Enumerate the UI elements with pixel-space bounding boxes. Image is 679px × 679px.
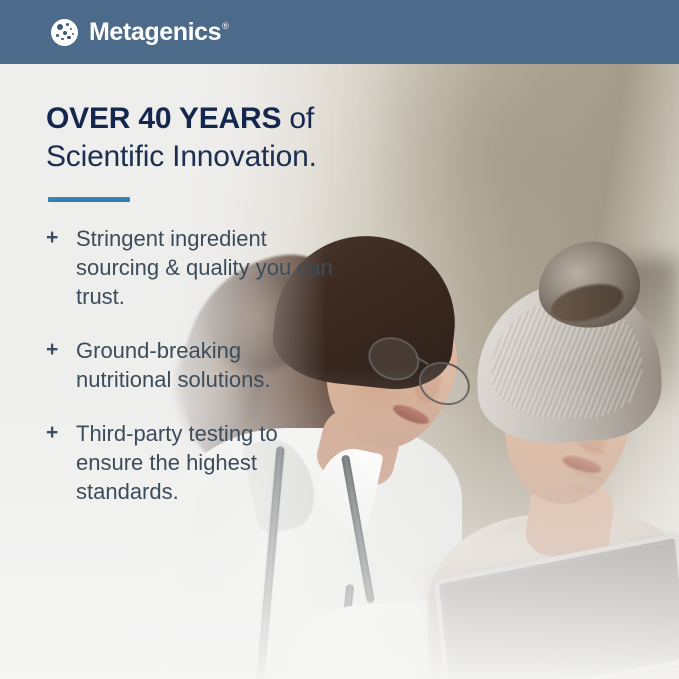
list-item-label: Third-party testing to ensure the highes… xyxy=(76,419,336,506)
plus-icon: + xyxy=(46,224,66,252)
list-item: + Third-party testing to ensure the high… xyxy=(46,419,386,506)
benefits-list: + Stringent ingredient sourcing & qualit… xyxy=(46,224,386,506)
headline-connector: of xyxy=(281,102,314,135)
hero-copy-block: OVER 40 YEARS of Scientific Innovation. … xyxy=(46,100,386,531)
page-title: OVER 40 YEARS of Scientific Innovation. xyxy=(46,100,386,175)
brand-logo-lockup[interactable]: Metagenics ® xyxy=(51,19,229,46)
plus-icon: + xyxy=(46,419,66,447)
list-item-label: Stringent ingredient sourcing & quality … xyxy=(76,224,336,311)
list-item-label: Ground-breaking nutritional solutions. xyxy=(76,336,336,394)
list-item: + Stringent ingredient sourcing & qualit… xyxy=(46,224,386,311)
brand-name-text: Metagenics xyxy=(89,20,221,45)
plus-icon: + xyxy=(46,336,66,364)
brand-wordmark: Metagenics ® xyxy=(89,20,229,45)
accent-divider-rule xyxy=(48,197,130,202)
list-item: + Ground-breaking nutritional solutions. xyxy=(46,336,386,394)
registered-trademark-symbol: ® xyxy=(222,22,229,31)
headline-emphasis: OVER 40 YEARS xyxy=(46,102,281,135)
metagenics-promo-banner: Metagenics ® OVER 40 YEARS of Scientific… xyxy=(0,0,679,679)
metagenics-circle-dots-logo-icon xyxy=(51,19,78,46)
brand-header-bar: Metagenics ® xyxy=(0,0,679,64)
headline-second-line: Scientific Innovation. xyxy=(46,138,386,176)
